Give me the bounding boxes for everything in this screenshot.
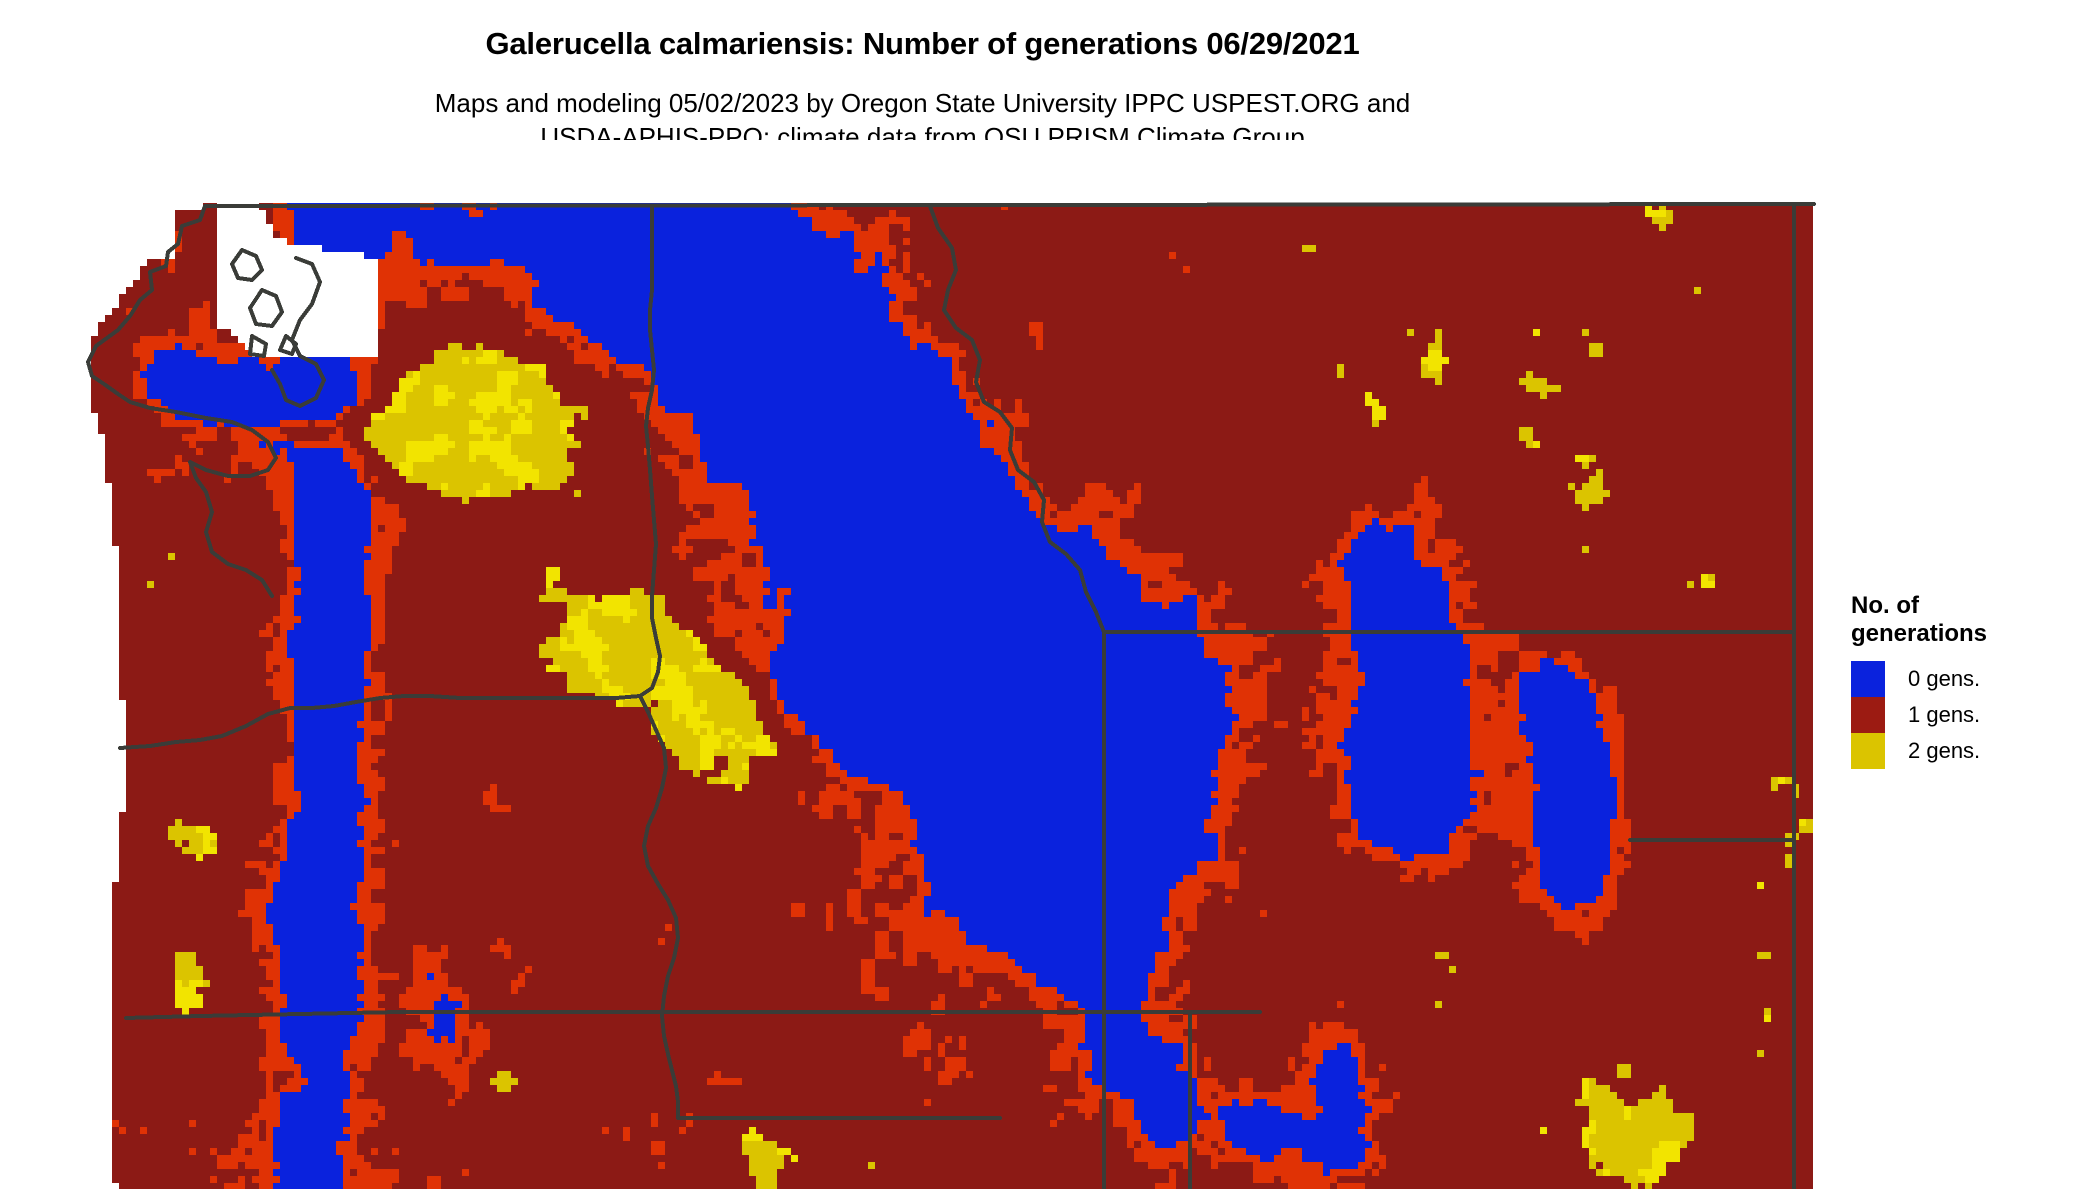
legend-swatch-2-gens: [1851, 733, 1885, 769]
map-canvas[interactable]: [0, 140, 1845, 1189]
legend-item-0-gens[interactable]: 0 gens.: [1851, 661, 2081, 697]
map-page: Galerucella calmariensis: Number of gene…: [0, 0, 2100, 1189]
legend-label-0-gens: 0 gens.: [1908, 666, 1980, 692]
legend-label-1-gens: 1 gens.: [1908, 702, 1980, 728]
page-title: Galerucella calmariensis: Number of gene…: [0, 26, 1845, 62]
legend-item-list: 0 gens. 1 gens. 2 gens.: [1851, 661, 2081, 769]
map-legend: No. of generations 0 gens. 1 gens. 2 gen…: [1851, 592, 2081, 769]
legend-item-1-gens[interactable]: 1 gens.: [1851, 697, 2081, 733]
legend-item-2-gens[interactable]: 2 gens.: [1851, 733, 2081, 769]
subtitle-line-1: Maps and modeling 05/02/2023 by Oregon S…: [435, 88, 1411, 118]
generations-raster-map[interactable]: [0, 140, 1845, 1189]
border-path: [205, 204, 1814, 206]
legend-swatch-1-gens: [1851, 697, 1885, 733]
legend-swatch-0-gens: [1851, 661, 1885, 697]
legend-label-2-gens: 2 gens.: [1908, 738, 1980, 764]
legend-title: No. of generations: [1851, 592, 2081, 648]
